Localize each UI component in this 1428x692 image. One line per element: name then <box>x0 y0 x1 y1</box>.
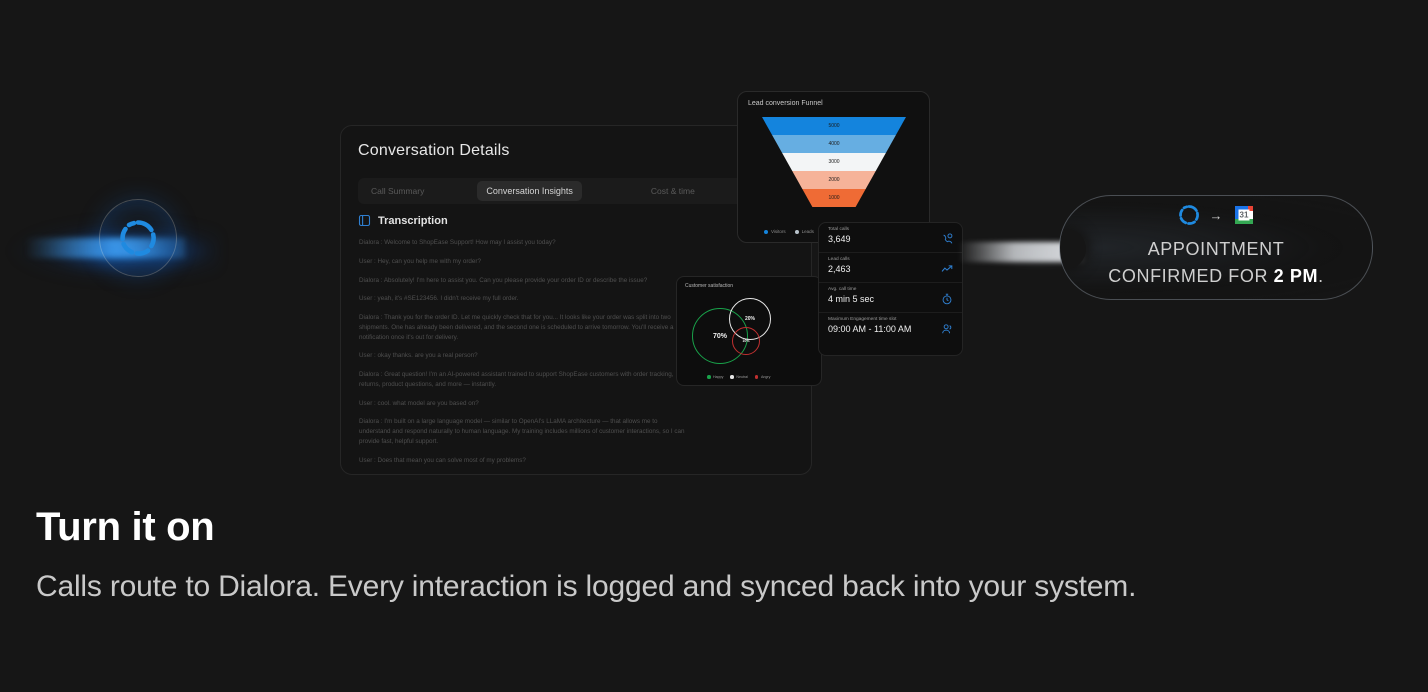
metric-label: Lead calls <box>828 257 953 262</box>
callout-icon-row: → 31 <box>1060 204 1372 226</box>
venn-label-angry: 10% <box>742 339 749 343</box>
svg-text:31: 31 <box>1239 211 1248 220</box>
legend-swatch <box>755 375 759 379</box>
tab-cost-and-time[interactable]: Cost & time <box>642 181 704 201</box>
metric-label: Maximum Engagement time slot <box>828 317 953 322</box>
appointment-callout: → 31 APPOINTMENT CONFIRMED FOR 2 PM. <box>1059 195 1373 300</box>
legend-swatch <box>764 230 768 234</box>
callout-line-2-prefix: CONFIRMED FOR <box>1108 266 1273 286</box>
satisfaction-chart-title: Customer satisfaction <box>685 283 733 289</box>
callout-text: APPOINTMENT CONFIRMED FOR 2 PM. <box>1060 236 1372 289</box>
stopwatch-icon <box>941 292 953 304</box>
tab-call-summary[interactable]: Call Summary <box>362 181 433 201</box>
transcript-line: User : okay thanks. are you a real perso… <box>359 351 689 361</box>
funnel-segment: 1000 <box>762 189 906 207</box>
funnel-chart: 5000 4000 3000 2000 1000 <box>762 117 906 207</box>
legend-label: Neutral <box>736 375 748 379</box>
funnel-segment-label: 5000 <box>828 123 839 129</box>
transcript-body: Dialora : Welcome to ShopEase Support! H… <box>359 238 689 474</box>
metric-label: Total calls <box>828 227 953 232</box>
page-title: Conversation Details <box>358 142 510 160</box>
metric-label: Avg. call time <box>828 287 953 292</box>
funnel-segment: 3000 <box>762 153 906 171</box>
document-icon <box>358 214 371 227</box>
funnel-segment: 4000 <box>762 135 906 153</box>
transcript-line: Dialora : I'm built on a large language … <box>359 417 689 446</box>
legend-item: Happy <box>707 375 723 379</box>
callout-time: 2 PM <box>1274 266 1318 286</box>
transcript-line: Dialora : Absolutely! I'm here to assist… <box>359 276 689 286</box>
transcription-label: Transcription <box>378 215 448 227</box>
legend-swatch <box>795 230 799 234</box>
google-calendar-icon: 31 <box>1233 204 1255 226</box>
customer-satisfaction-card: Customer satisfaction 70% 20% 10% Happy … <box>676 276 822 386</box>
legend-item: Visitors <box>764 229 786 234</box>
metric-value: 2,463 <box>828 264 953 274</box>
venn-chart: 70% 20% 10% <box>685 291 815 367</box>
legend-swatch <box>707 375 711 379</box>
users-icon <box>941 322 953 334</box>
metric-value: 4 min 5 sec <box>828 294 953 304</box>
funnel-segment-label: 1000 <box>828 195 839 201</box>
transcript-line: User : Does that mean you can solve most… <box>359 456 689 466</box>
funnel-segment-label: 4000 <box>828 141 839 147</box>
funnel-segment: 5000 <box>762 117 906 135</box>
venn-label-neutral: 20% <box>745 316 755 322</box>
legend-label: Leads <box>802 229 814 234</box>
callout-line-2: CONFIRMED FOR 2 PM. <box>1060 263 1372 290</box>
legend-label: Angry <box>761 375 770 379</box>
arrow-right-icon: → <box>1210 209 1223 222</box>
callout-line-2-suffix: . <box>1318 266 1324 286</box>
hero-headline: Turn it on <box>36 505 214 550</box>
metric-value: 09:00 AM - 11:00 AM <box>828 324 953 334</box>
funnel-segment: 2000 <box>762 171 906 189</box>
dialora-mini-logo-icon <box>1178 204 1200 226</box>
transcript-line: Dialora : Great question! I'm an AI-powe… <box>359 370 689 390</box>
transcription-header: Transcription <box>358 214 448 227</box>
transcript-line: User : Hey, can you help me with my orde… <box>359 257 689 267</box>
transcript-line: User : yeah, it's #SE123456. I didn't re… <box>359 294 689 304</box>
satisfaction-legend: Happy Neutral Angry <box>707 375 770 379</box>
funnel-segment-label: 3000 <box>828 159 839 165</box>
transcript-line: User : cool. what model are you based on… <box>359 399 689 409</box>
venn-label-happy: 70% <box>713 333 727 340</box>
metric-value: 3,649 <box>828 234 953 244</box>
metric-avg-call-time: Avg. call time 4 min 5 sec <box>819 283 962 313</box>
venn-circle-angry: 10% <box>732 327 760 355</box>
legend-item: Neutral <box>730 375 748 379</box>
transcript-line: Dialora : Thank you for the order ID. Le… <box>359 313 689 342</box>
tab-conversation-insights[interactable]: Conversation Insights <box>477 181 582 201</box>
legend-item: Leads <box>795 229 814 234</box>
legend-label: Happy <box>713 375 723 379</box>
callout-line-1: APPOINTMENT <box>1060 236 1372 263</box>
funnel-chart-title: Lead conversion Funnel <box>748 100 823 107</box>
funnel-legend: Visitors Leads <box>764 229 814 234</box>
metric-max-engagement-slot: Maximum Engagement time slot 09:00 AM - … <box>819 313 962 343</box>
legend-label: Visitors <box>771 229 786 234</box>
lead-conversion-funnel-card: Lead conversion Funnel 5000 4000 3000 20… <box>737 91 930 243</box>
dialora-logo-icon <box>118 218 158 258</box>
legend-item: Angry <box>755 375 770 379</box>
legend-swatch <box>730 375 734 379</box>
transcript-line: Dialora : Welcome to ShopEase Support! H… <box>359 238 689 248</box>
funnel-segment-label: 2000 <box>828 177 839 183</box>
hero-section: Conversation Details Call Summary Conver… <box>0 0 1428 692</box>
hero-subhead: Calls route to Dialora. Every interactio… <box>36 570 1136 604</box>
